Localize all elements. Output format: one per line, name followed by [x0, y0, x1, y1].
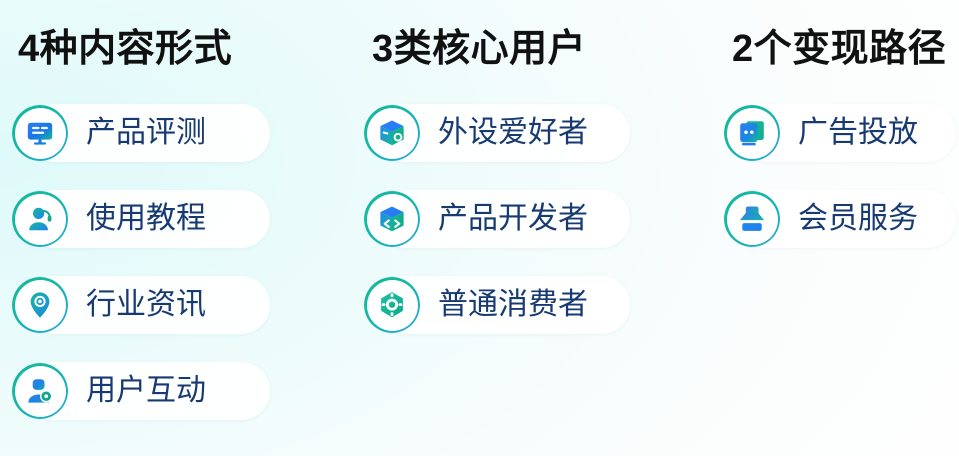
- list-item[interactable]: 使用教程: [12, 190, 352, 248]
- column-items: 广告投放: [706, 104, 959, 276]
- list-item[interactable]: 用户互动: [12, 362, 352, 420]
- column-heading: 4种内容形式: [18, 26, 232, 72]
- gear-consumer-icon: [364, 277, 420, 333]
- inbox-tray-icon: [724, 191, 780, 247]
- column-core-users: 3类核心用户: [352, 0, 706, 456]
- list-item-label: 广告投放: [798, 116, 918, 150]
- column-items: 产品评测: [0, 104, 352, 448]
- headset-agent-icon: [12, 191, 68, 247]
- infographic-canvas: 4种内容形式: [0, 0, 959, 456]
- user-interaction-icon: [12, 363, 68, 419]
- list-item[interactable]: 产品评测: [12, 104, 352, 162]
- ad-cards-icon: [724, 105, 780, 161]
- cube-developer-icon: [364, 191, 420, 247]
- list-item-label: 使用教程: [86, 202, 206, 236]
- list-item[interactable]: 会员服务: [724, 190, 959, 248]
- column-heading: 3类核心用户: [372, 26, 586, 72]
- column-monetization-paths: 2个变现路径: [706, 0, 959, 456]
- list-item-label: 会员服务: [798, 202, 918, 236]
- location-pin-icon: [12, 277, 68, 333]
- column-items: 外设爱好者: [352, 104, 706, 362]
- list-item-label: 产品评测: [86, 116, 206, 150]
- cube-peripheral-icon: [364, 105, 420, 161]
- list-item[interactable]: 广告投放: [724, 104, 959, 162]
- column-heading: 2个变现路径: [732, 26, 946, 72]
- monitor-review-icon: [12, 105, 68, 161]
- columns-container: 4种内容形式: [0, 0, 959, 456]
- list-item-label: 普通消费者: [438, 288, 588, 322]
- column-content-formats: 4种内容形式: [0, 0, 352, 456]
- list-item[interactable]: 普通消费者: [364, 276, 706, 334]
- list-item-label: 行业资讯: [86, 288, 206, 322]
- list-item-label: 用户互动: [86, 374, 206, 408]
- list-item[interactable]: 行业资讯: [12, 276, 352, 334]
- list-item-label: 外设爱好者: [438, 116, 588, 150]
- list-item[interactable]: 外设爱好者: [364, 104, 706, 162]
- list-item-label: 产品开发者: [438, 202, 588, 236]
- list-item[interactable]: 产品开发者: [364, 190, 706, 248]
